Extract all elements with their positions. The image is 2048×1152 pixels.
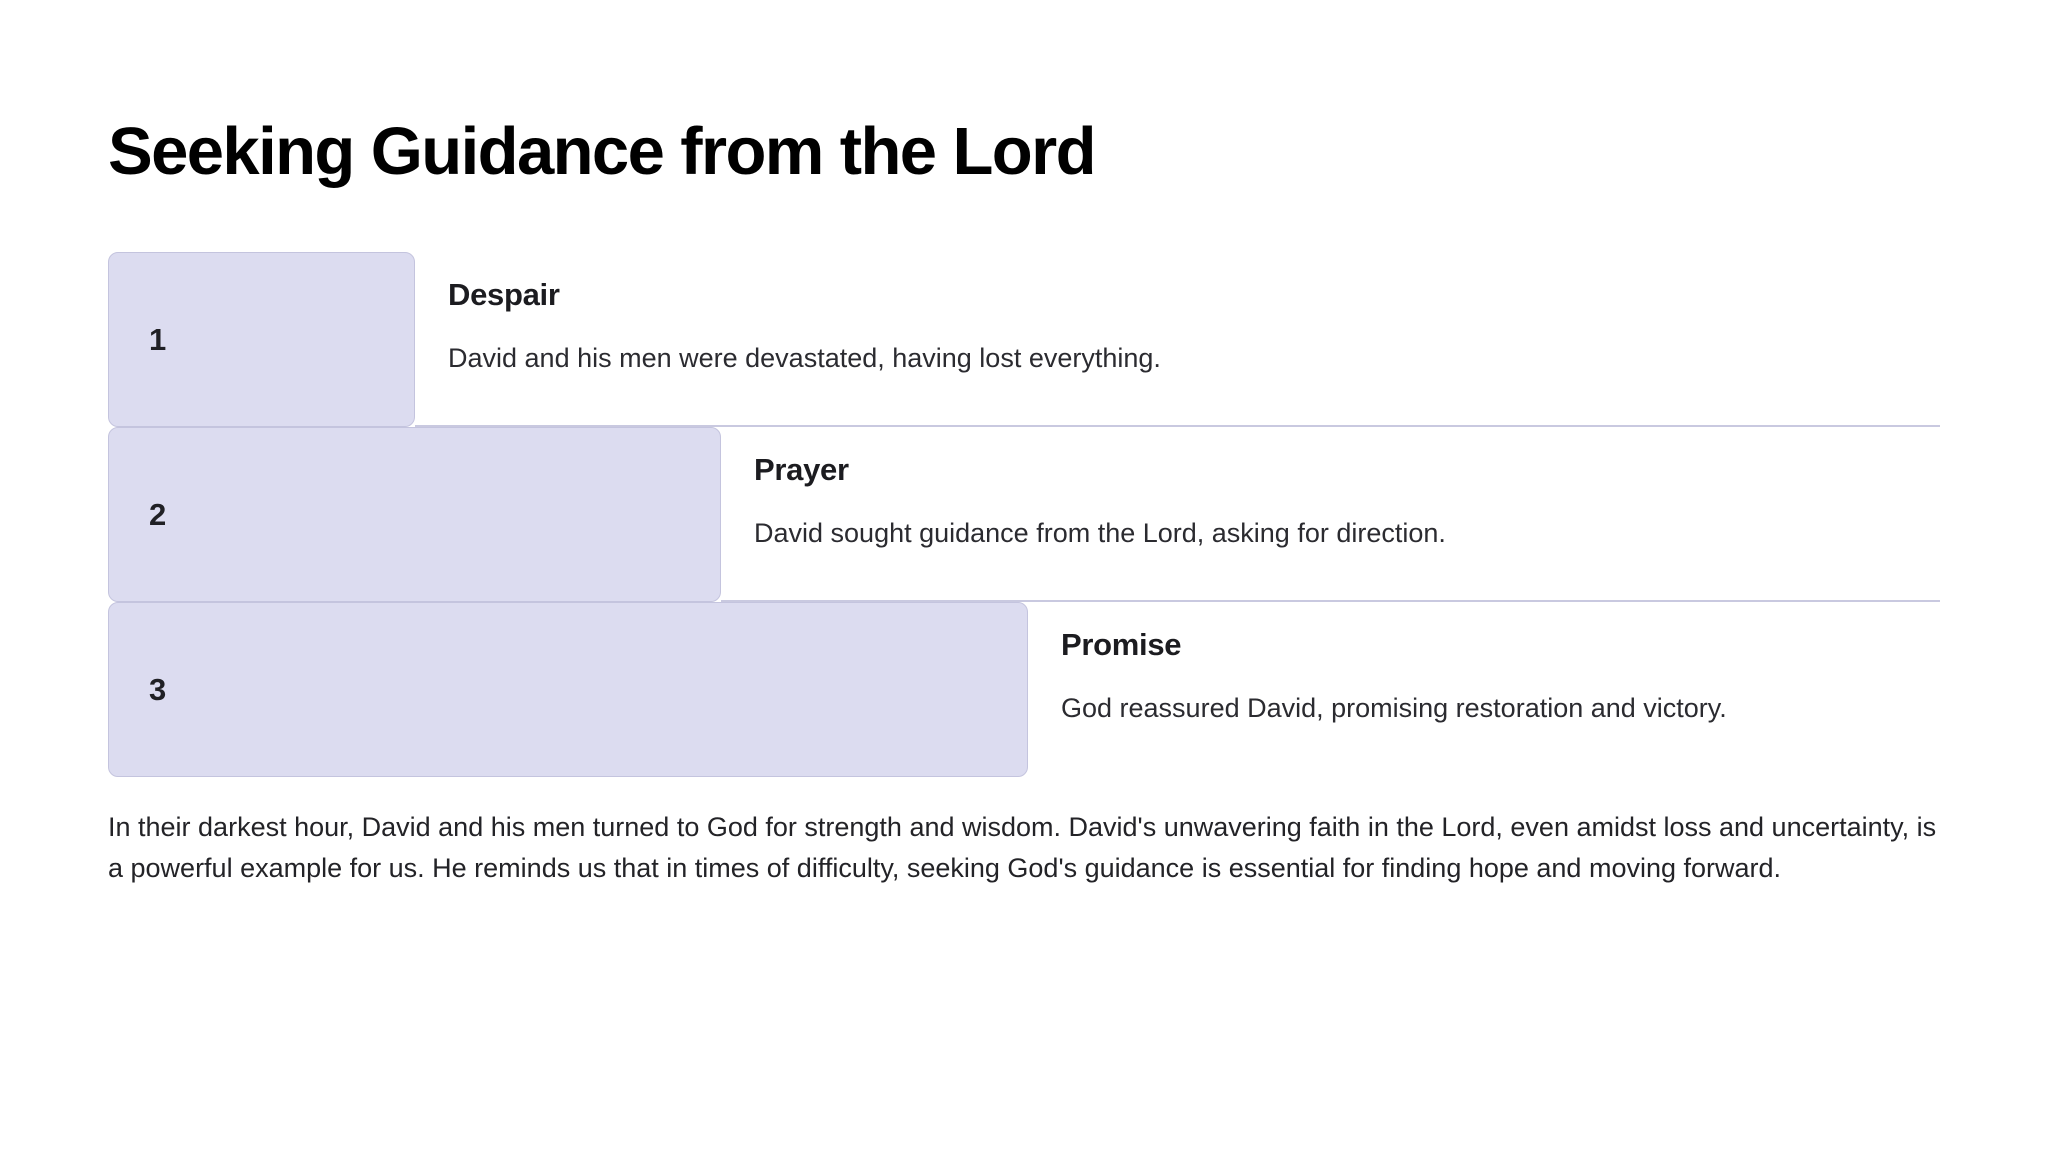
list-item[interactable]: 3 Promise God reassured David, promising… bbox=[108, 602, 1940, 777]
page-title: Seeking Guidance from the Lord bbox=[108, 0, 1940, 188]
step-number-bar: 3 bbox=[108, 602, 1028, 777]
step-number-bar: 2 bbox=[108, 427, 721, 602]
step-heading: Promise bbox=[1061, 626, 1940, 665]
list-item[interactable]: 2 Prayer David sought guidance from the … bbox=[108, 427, 1940, 602]
step-number-label: 2 bbox=[149, 499, 166, 530]
list-item[interactable]: 1 Despair David and his men were devasta… bbox=[108, 252, 1940, 427]
step-number-label: 3 bbox=[149, 674, 166, 705]
step-heading: Prayer bbox=[754, 451, 1940, 490]
step-description: God reassured David, promising restorati… bbox=[1061, 665, 1940, 752]
step-description: David and his men were devastated, havin… bbox=[448, 315, 1940, 402]
steps-list: 1 Despair David and his men were devasta… bbox=[108, 252, 1940, 777]
step-number-bar: 1 bbox=[108, 252, 415, 427]
step-content: Despair David and his men were devastate… bbox=[415, 252, 1940, 427]
step-heading: Despair bbox=[448, 276, 1940, 315]
step-content: Promise God reassured David, promising r… bbox=[1028, 602, 1940, 777]
step-description: David sought guidance from the Lord, ask… bbox=[754, 490, 1940, 577]
summary-paragraph: In their darkest hour, David and his men… bbox=[108, 777, 1940, 889]
step-number-label: 1 bbox=[149, 324, 166, 355]
page-root: Seeking Guidance from the Lord 1 Despair… bbox=[0, 0, 2048, 1152]
step-content: Prayer David sought guidance from the Lo… bbox=[721, 427, 1940, 602]
